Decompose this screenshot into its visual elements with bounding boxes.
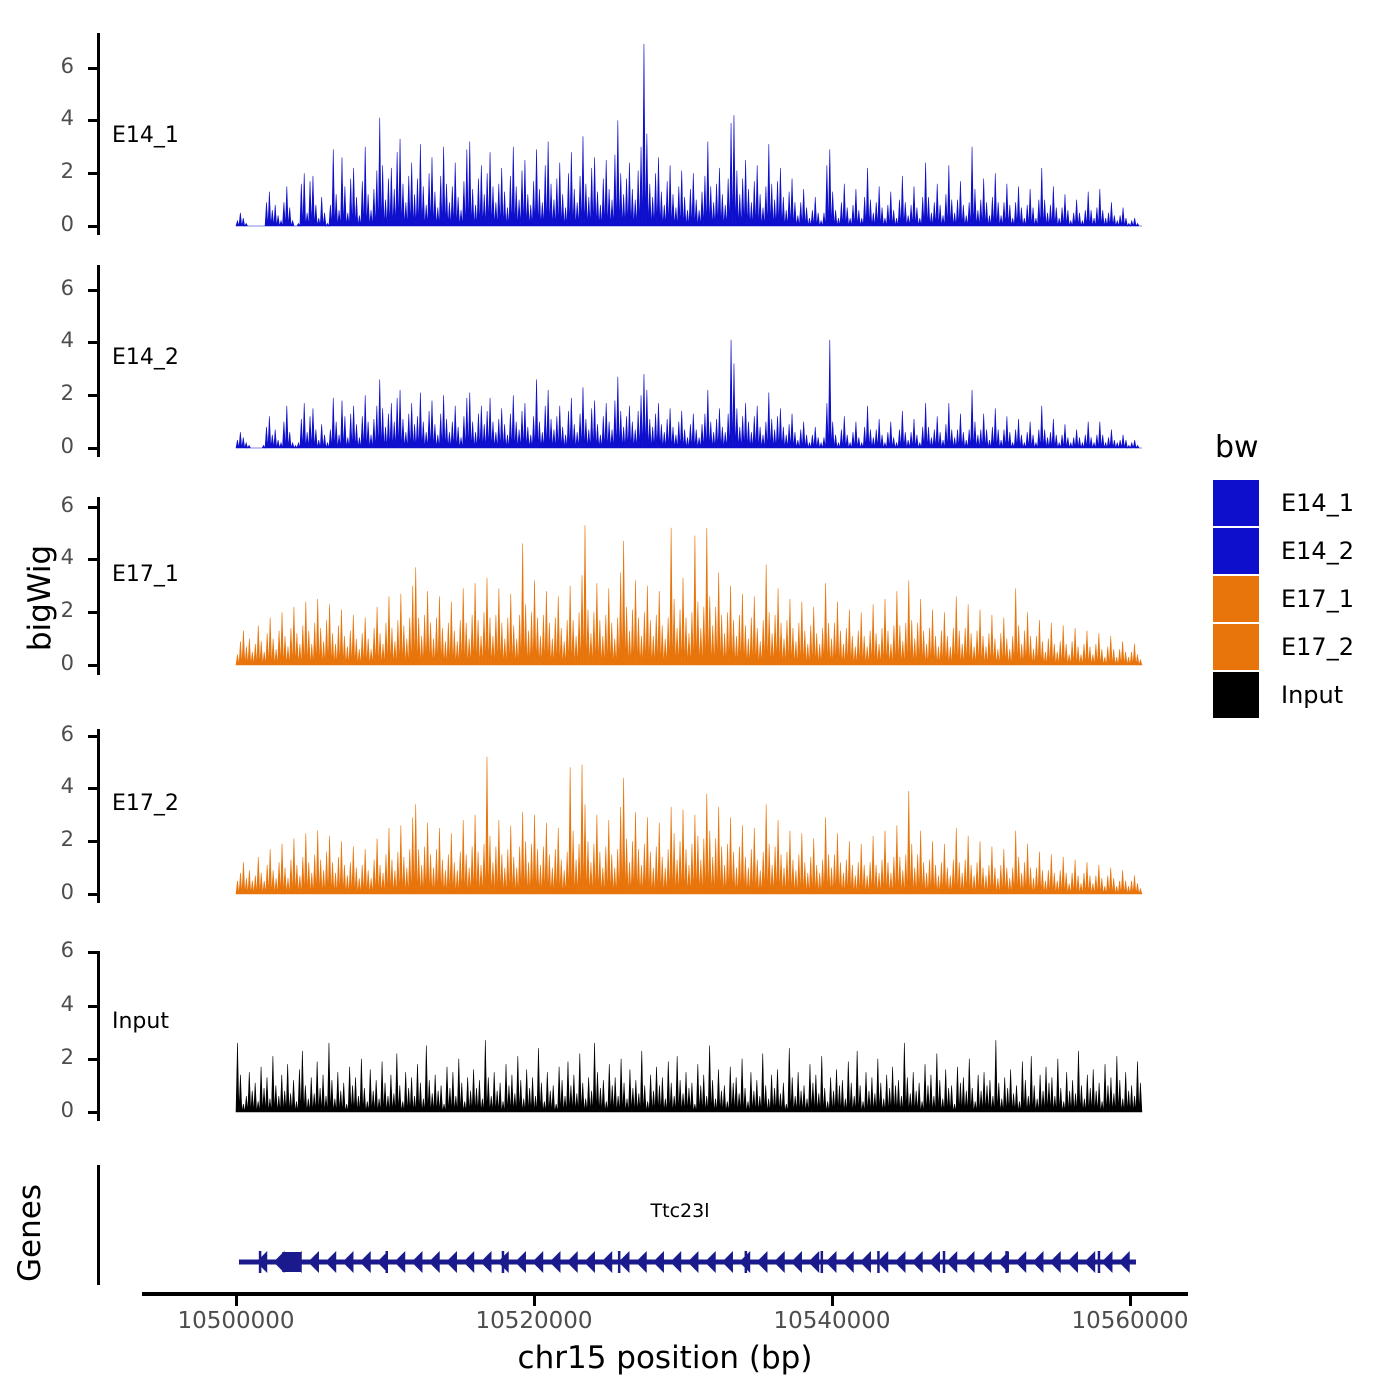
legend-item-input[interactable]: Input <box>1213 671 1354 719</box>
legend-swatch-e14_2 <box>1213 528 1259 574</box>
legend-swatch-e17_2 <box>1213 624 1259 670</box>
legend: bw E14_1E14_2E17_1E17_2Input <box>1213 430 1354 719</box>
x-tick-label: 10520000 <box>444 1308 624 1334</box>
legend-label-e17_1: E17_1 <box>1281 585 1354 613</box>
x-tick-label: 10560000 <box>1040 1308 1220 1334</box>
legend-item-e17_2[interactable]: E17_2 <box>1213 623 1354 671</box>
legend-title: bw <box>1215 430 1354 465</box>
x-tick <box>533 1296 536 1306</box>
legend-item-e17_1[interactable]: E17_1 <box>1213 575 1354 623</box>
x-axis-line <box>142 1292 1188 1296</box>
legend-label-input: Input <box>1281 681 1343 709</box>
legend-swatch-input <box>1213 672 1259 718</box>
legend-label-e14_2: E14_2 <box>1281 537 1354 565</box>
legend-swatch-e14_1 <box>1213 480 1259 526</box>
legend-label-e17_2: E17_2 <box>1281 633 1354 661</box>
x-tick-label: 10500000 <box>146 1308 326 1334</box>
legend-label-e14_1: E14_1 <box>1281 489 1354 517</box>
x-tick-label: 10540000 <box>742 1308 922 1334</box>
x-tick <box>831 1296 834 1306</box>
legend-swatch-e17_1 <box>1213 576 1259 622</box>
x-tick <box>235 1296 238 1306</box>
legend-item-e14_2[interactable]: E14_2 <box>1213 527 1354 575</box>
x-tick <box>1129 1296 1132 1306</box>
legend-items: E14_1E14_2E17_1E17_2Input <box>1213 479 1354 719</box>
legend-item-e14_1[interactable]: E14_1 <box>1213 479 1354 527</box>
x-axis-title: chr15 position (bp) <box>140 1340 1190 1376</box>
